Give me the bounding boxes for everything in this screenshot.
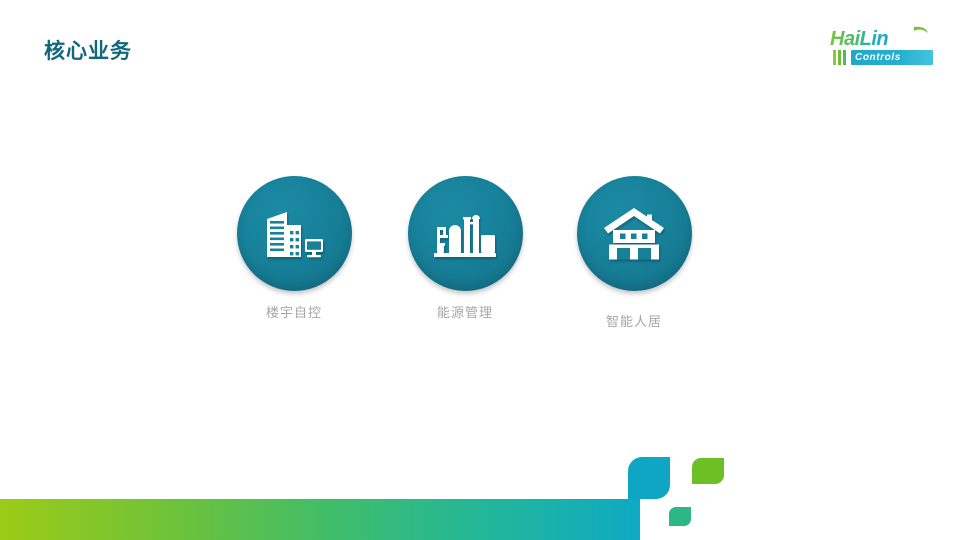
business-item-smart-living[interactable]: 智能人居 — [554, 176, 714, 330]
icon-circle[interactable] — [408, 176, 523, 291]
business-item-label: 能源管理 — [385, 305, 545, 321]
footer-gradient-bar — [0, 499, 640, 540]
business-item-building-automation[interactable]: 楼宇自控 — [214, 176, 374, 321]
house-icon — [603, 206, 665, 262]
slide-canvas: 核心业务 HaiLin — [0, 0, 960, 540]
business-item-label: 楼宇自控 — [214, 305, 374, 321]
decorative-leaf-blue-icon — [628, 457, 670, 499]
business-item-energy-management[interactable]: 能源管理 — [385, 176, 545, 321]
decorative-leaf-teal-icon — [669, 507, 691, 526]
icon-circle[interactable] — [237, 176, 352, 291]
industrial-plant-icon — [433, 205, 497, 263]
decorative-leaf-green-icon — [692, 458, 724, 484]
icon-circle[interactable] — [577, 176, 692, 291]
building-monitor-icon — [263, 205, 325, 263]
core-business-items: 楼宇自控 — [0, 0, 960, 540]
business-item-label: 智能人居 — [554, 314, 714, 330]
